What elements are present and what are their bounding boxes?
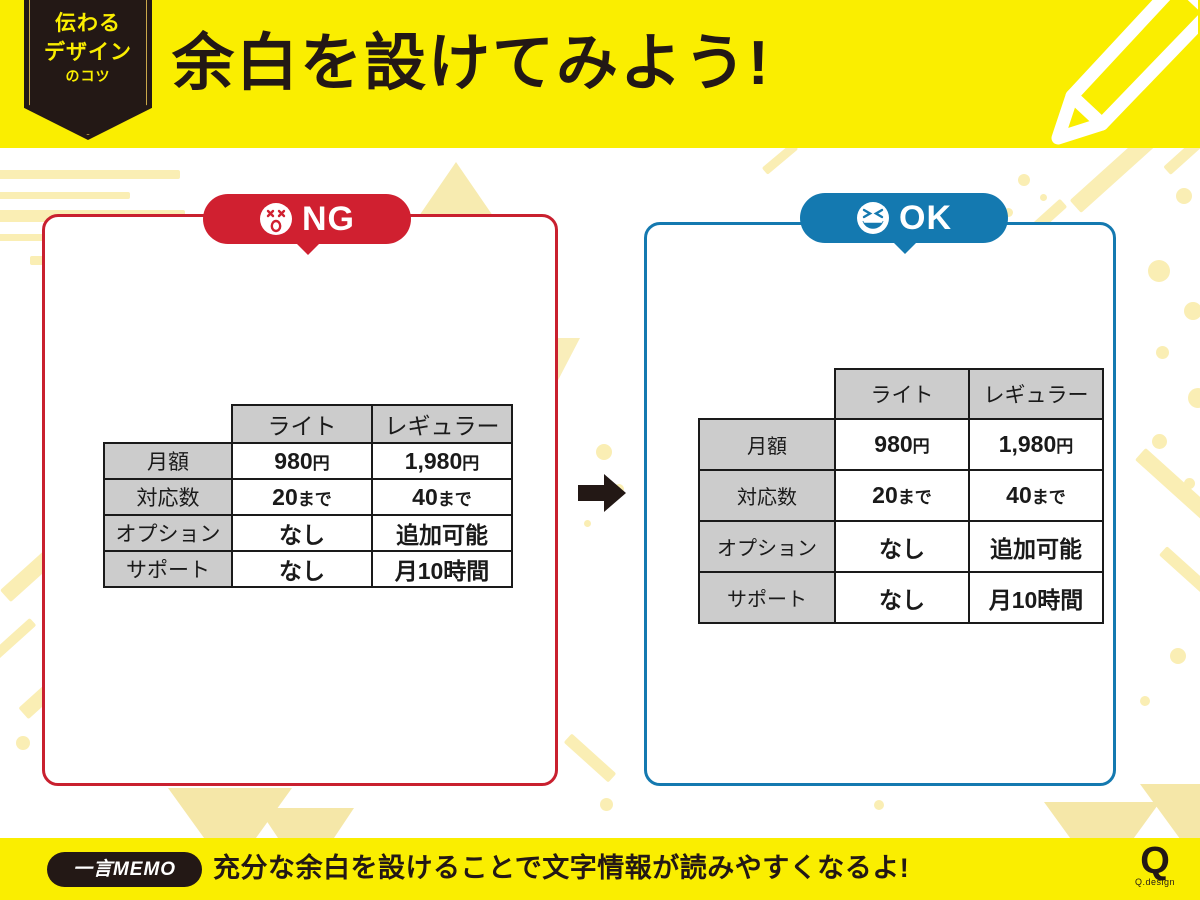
value-number: 1,980: [405, 448, 463, 474]
cell-support-light: なし: [232, 551, 372, 587]
cell-support-light: なし: [835, 572, 969, 623]
value-unit: まで: [438, 490, 472, 509]
cell-monthly-light: 980円: [232, 443, 372, 479]
table-row: 月額 980円 1,980円: [699, 419, 1103, 470]
memo-pill: 一言MEMO: [47, 852, 202, 887]
cell-option-light: なし: [835, 521, 969, 572]
right-arrow-icon: [578, 472, 626, 514]
value-unit: 円: [462, 454, 479, 473]
value-unit: まで: [298, 490, 332, 509]
ng-badge: NG: [203, 194, 411, 244]
value-number: 20: [272, 484, 298, 510]
row-label-option: オプション: [104, 515, 232, 551]
row-label-monthly: 月額: [699, 419, 835, 470]
row-label-capacity: 対応数: [104, 479, 232, 515]
row-label-monthly: 月額: [104, 443, 232, 479]
cell-option-light: なし: [232, 515, 372, 551]
table-header-row: ライト レギュラー: [699, 369, 1103, 419]
slide-canvas: 伝わる デザイン のコツ 余白を設けてみよう! NG ライト: [0, 0, 1200, 900]
cell-monthly-regular: 1,980円: [969, 419, 1103, 470]
value-number: 980: [874, 431, 912, 457]
ng-badge-label: NG: [302, 202, 355, 236]
value-unit: まで: [898, 488, 932, 507]
logo: Q Q.design: [1124, 843, 1186, 887]
column-header-regular: レギュラー: [372, 405, 512, 443]
table-corner-cell: [104, 405, 232, 443]
value-number: 20: [872, 482, 898, 508]
table-row: 月額 980円 1,980円: [104, 443, 512, 479]
value-number: 980: [274, 448, 312, 474]
brand-line-2: デザイン: [44, 41, 132, 64]
cell-monthly-regular: 1,980円: [372, 443, 512, 479]
ng-badge-pointer: [296, 243, 320, 255]
table-row: オプション なし 追加可能: [699, 521, 1103, 572]
table-row: 対応数 20まで 40まで: [104, 479, 512, 515]
cell-capacity-regular: 40まで: [969, 470, 1103, 521]
dizzy-face-icon: [259, 202, 293, 236]
slide-header: 伝わる デザイン のコツ 余白を設けてみよう!: [0, 0, 1200, 148]
value-unit: まで: [1032, 488, 1066, 507]
row-label-support: サポート: [104, 551, 232, 587]
value-number: 1,980: [999, 431, 1057, 457]
memo-pill-label: 一言MEMO: [73, 860, 176, 879]
table-corner-cell: [699, 369, 835, 419]
column-header-regular: レギュラー: [969, 369, 1103, 419]
ok-badge-label: OK: [899, 201, 952, 235]
cell-capacity-light: 20まで: [232, 479, 372, 515]
page-title: 余白を設けてみよう!: [172, 33, 771, 95]
value-unit: 円: [913, 437, 930, 456]
memo-text: 充分な余白を設けることで文字情報が読みやすくなるよ!: [213, 850, 909, 888]
ok-price-table: ライト レギュラー 月額 980円 1,980円 対応数 20まで 40まで オ…: [698, 368, 1104, 624]
value-number: 40: [1006, 482, 1032, 508]
table-row: 対応数 20まで 40まで: [699, 470, 1103, 521]
table-row: オプション なし 追加可能: [104, 515, 512, 551]
table-header-row: ライト レギュラー: [104, 405, 512, 443]
table-row: サポート なし 月10時間: [699, 572, 1103, 623]
cell-capacity-regular: 40まで: [372, 479, 512, 515]
column-header-light: ライト: [835, 369, 969, 419]
brand-ribbon: 伝わる デザイン のコツ: [24, 0, 152, 140]
row-label-capacity: 対応数: [699, 470, 835, 521]
laughing-face-icon: [856, 201, 890, 235]
row-label-option: オプション: [699, 521, 835, 572]
cell-support-regular: 月10時間: [969, 572, 1103, 623]
value-number: 40: [412, 484, 438, 510]
ok-badge: OK: [800, 193, 1008, 243]
cell-capacity-light: 20まで: [835, 470, 969, 521]
cell-option-regular: 追加可能: [969, 521, 1103, 572]
logo-text: Q.design: [1124, 877, 1186, 887]
pencil-icon: [1028, 0, 1198, 148]
cell-monthly-light: 980円: [835, 419, 969, 470]
value-unit: 円: [313, 454, 330, 473]
row-label-support: サポート: [699, 572, 835, 623]
cell-support-regular: 月10時間: [372, 551, 512, 587]
value-unit: 円: [1056, 437, 1073, 456]
table-row: サポート なし 月10時間: [104, 551, 512, 587]
brand-line-3: のコツ: [66, 69, 111, 84]
brand-line-1: 伝わる: [55, 12, 121, 35]
ok-badge-pointer: [893, 242, 917, 254]
cell-option-regular: 追加可能: [372, 515, 512, 551]
logo-mark: Q: [1124, 843, 1186, 879]
ng-price-table: ライト レギュラー 月額 980円 1,980円 対応数 20まで 40まで オ…: [103, 404, 513, 588]
column-header-light: ライト: [232, 405, 372, 443]
